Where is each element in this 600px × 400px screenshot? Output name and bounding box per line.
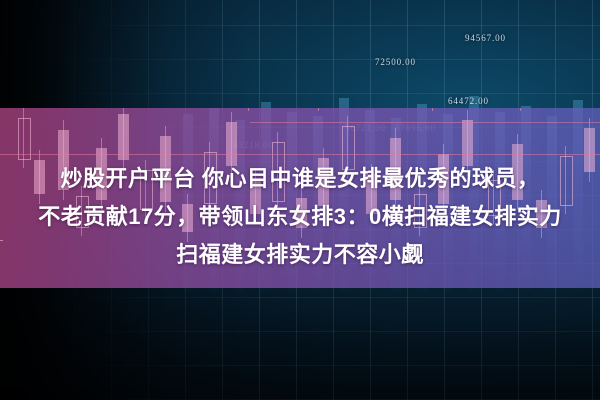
headline-text: 炒股开户平台 你心目中谁是女排最优秀的球员， 不老贡献17分，带领山东女排3：0… bbox=[0, 160, 600, 274]
band-trend-line bbox=[0, 154, 600, 155]
price-label: 64472.00 bbox=[448, 96, 489, 106]
headline-line-3: 扫福建女排实力不容小觑 bbox=[0, 236, 600, 274]
headline-line-2: 不老贡献17分，带领山东女排3：0横扫福建女排实力 bbox=[0, 198, 600, 236]
band-trend-line bbox=[250, 122, 600, 123]
stock-chart-banner: 94567.0072500.0064472.0067896.0056721.00… bbox=[0, 0, 600, 400]
price-label: 72500.00 bbox=[375, 57, 416, 67]
headline-line-1: 炒股开户平台 你心目中谁是女排最优秀的球员， bbox=[0, 160, 600, 198]
price-label: 94567.00 bbox=[465, 33, 506, 43]
